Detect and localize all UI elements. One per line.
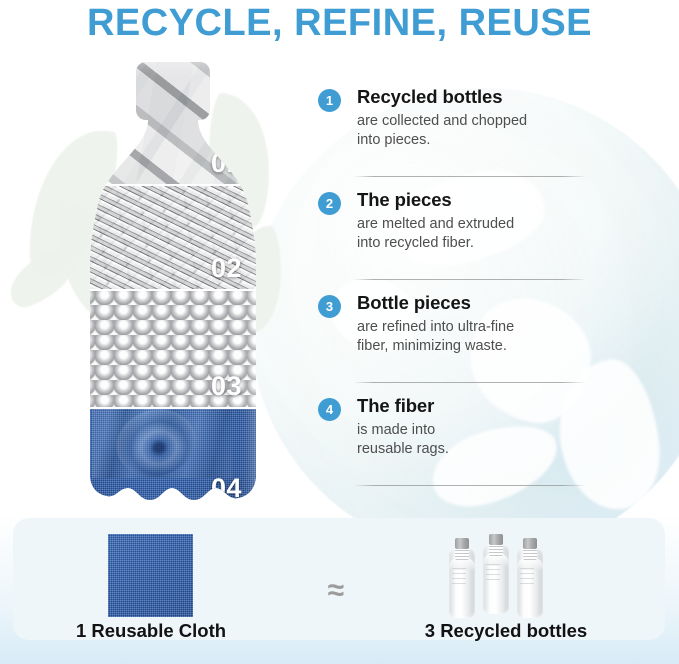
step-item-3: 3 Bottle pieces are refined into ultra-f… — [318, 292, 618, 395]
step-item-1: 1 Recycled bottles are collected and cho… — [318, 86, 618, 189]
recycled-bottle-icon — [447, 538, 477, 618]
step-number-badge: 1 — [318, 89, 341, 112]
bottle-segment-04: 04 — [76, 408, 258, 510]
recycled-bottle-icon — [481, 534, 511, 614]
segment-divider — [76, 289, 258, 291]
bottle-segment-number: 01 — [211, 148, 242, 179]
step-divider — [355, 176, 585, 177]
step-number-badge: 4 — [318, 398, 341, 421]
step-item-2: 2 The pieces are melted and extruded int… — [318, 189, 618, 292]
cloth-caption: 1 Reusable Cloth — [33, 620, 269, 642]
step-heading: The fiber — [357, 395, 434, 417]
steps-list: 1 Recycled bottles are collected and cho… — [318, 86, 618, 498]
step-divider — [355, 382, 585, 383]
bottle-rib-lines — [452, 568, 466, 584]
step-number-badge: 3 — [318, 295, 341, 318]
bottles-caption: 3 Recycled bottles — [381, 620, 631, 642]
step-description: are melted and extruded into recycled fi… — [357, 215, 514, 253]
step-description: are refined into ultra-fine fiber, minim… — [357, 318, 514, 356]
bottle-segment-03: 03 — [76, 290, 258, 408]
bottle-cap-shape — [455, 538, 469, 549]
step-divider — [355, 279, 585, 280]
step-item-4: 4 The fiber is made into reusable rags. — [318, 395, 618, 498]
step-heading: Recycled bottles — [357, 86, 502, 108]
bottle-rib-lines — [520, 568, 534, 584]
bottle-segment-number: 02 — [211, 253, 242, 284]
step-heading: Bottle pieces — [357, 292, 471, 314]
segment-divider — [76, 407, 258, 409]
step-description: is made into reusable rags. — [357, 421, 449, 459]
bottle-cap-shape — [523, 538, 537, 549]
bottle-rib-lines — [486, 564, 500, 580]
page-title: RECYCLE, REFINE, REUSE — [0, 2, 679, 45]
step-heading: The pieces — [357, 189, 452, 211]
bottle-silhouette: 01 02 03 04 — [76, 62, 258, 510]
leaf-watermark-icon — [0, 243, 85, 312]
step-divider — [355, 485, 585, 486]
bottle-segment-01: 01 — [76, 62, 258, 185]
recycled-bottle-icon — [515, 538, 545, 618]
bottle-cap-shape — [489, 534, 503, 545]
bottle-segment-number: 03 — [211, 371, 242, 402]
bottle-segment-number: 04 — [211, 473, 242, 504]
infographic-canvas: RECYCLE, REFINE, REUSE 01 02 03 04 — [0, 0, 679, 664]
bottle-diagram: 01 02 03 04 — [76, 62, 258, 510]
recycled-bottles-icon-group — [445, 532, 563, 618]
comparison-panel: ≈ 1 Reusa — [13, 518, 665, 640]
approximately-equal-icon: ≈ — [313, 576, 359, 606]
step-number-badge: 2 — [318, 192, 341, 215]
segment-divider — [76, 184, 258, 186]
step-description: are collected and chopped into pieces. — [357, 112, 527, 150]
bottle-segment-02: 02 — [76, 185, 258, 290]
reusable-cloth-swatch-icon — [108, 534, 193, 617]
